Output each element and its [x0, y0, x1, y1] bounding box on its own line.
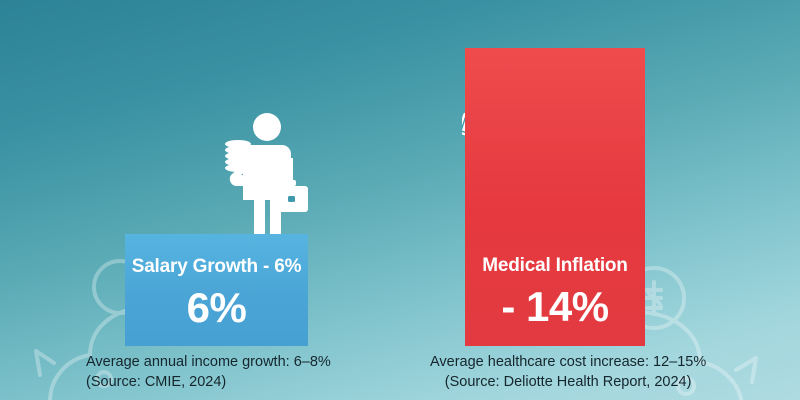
caption-salary-growth: Average annual income growth: 6–8% (Sour… [86, 352, 331, 392]
businessman-with-coins-and-briefcase-icon [208, 112, 320, 243]
caption-salary-line2: (Source: CMIE, 2024) [86, 372, 331, 392]
bar-salary-growth-value: 6% [125, 284, 308, 332]
bar-salary-growth: Salary Growth - 6% 6% [125, 234, 308, 346]
bar-medical-inflation: Medical Inflation - 14% [465, 48, 645, 346]
caption-medical-line1: Average healthcare cost increase: 12–15% [430, 352, 706, 372]
bar-medical-inflation-label: Medical Inflation [465, 255, 645, 277]
bar-medical-inflation-value: - 14% [465, 283, 645, 331]
infographic-canvas: Salary Growth - 6% 6% Medical Inflation … [0, 0, 800, 400]
caption-medical-line2: (Source: Deliotte Health Report, 2024) [430, 372, 706, 392]
caption-salary-line1: Average annual income growth: 6–8% [86, 352, 331, 372]
bar-salary-growth-label: Salary Growth - 6% [125, 256, 308, 278]
caption-medical-inflation: Average healthcare cost increase: 12–15%… [430, 352, 706, 392]
